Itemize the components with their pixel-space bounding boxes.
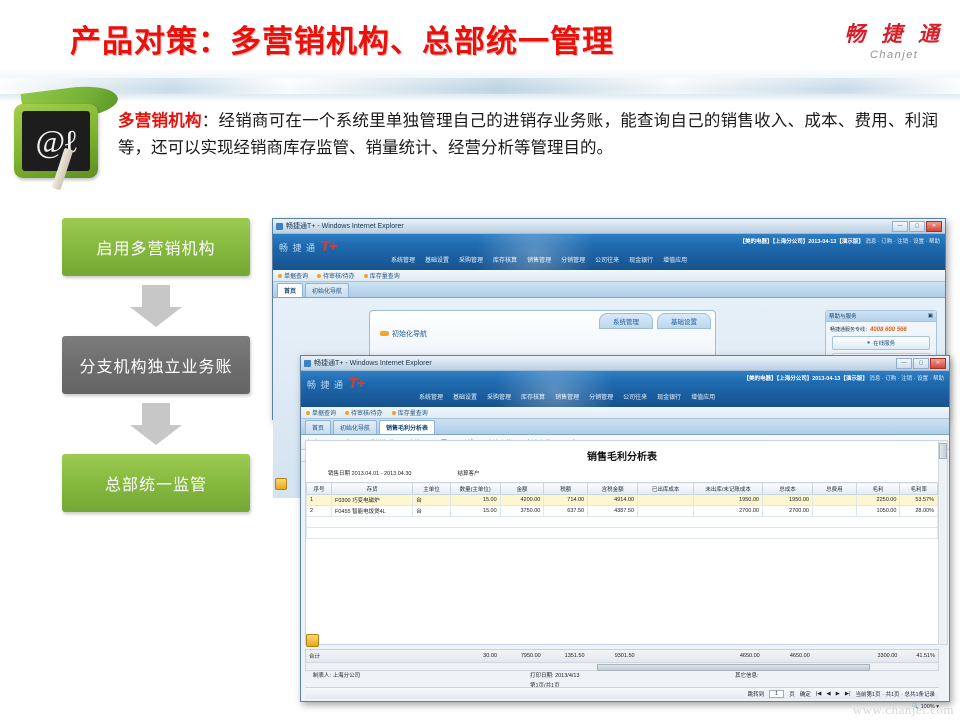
description-body: 经销商可在一个系统里单独管理自己的进销存业务账，能查询自己的销售收入、成本、费用…	[118, 112, 938, 157]
minimize-button[interactable]: —	[892, 221, 908, 232]
window1-title: 畅捷通T+ - Windows Internet Explorer	[286, 221, 404, 231]
cell-pending-cost: 1950.00	[694, 495, 763, 506]
window2-action-order[interactable]: 订购	[885, 376, 896, 382]
window2-action-help[interactable]: 帮助	[933, 376, 944, 382]
blackboard-icon: @ℓ	[14, 104, 98, 178]
window1-controls[interactable]: — ▢ ✕	[892, 221, 942, 232]
flow-step-3-label: 总部统一监管	[105, 471, 207, 495]
ie-icon	[276, 223, 283, 230]
cell-amount: 4200.00	[500, 495, 544, 506]
cell-inventory: F0300 巧变电磁炉	[331, 495, 412, 506]
decorative-band	[0, 68, 960, 102]
flow-step-2: 分支机构独立业务账	[62, 336, 250, 394]
report-window-front[interactable]: 畅捷通T+ - Windows Internet Explorer — ▢ ✕ …	[300, 355, 950, 702]
window2-org-info: 【美的电器】【上海分公司】2013-04-13【演示版】	[743, 376, 867, 382]
total-pending-cost: 4650.00	[694, 650, 763, 661]
col-amount[interactable]: 金额	[500, 483, 544, 495]
menu-item-ar-ap[interactable]: 公司往来	[595, 255, 619, 264]
tab-init-guide[interactable]: 初始化导航	[305, 283, 349, 297]
crumb-doc-query[interactable]: 单据查询	[312, 411, 336, 417]
window2-brand-dots: 畅 捷 通	[307, 380, 344, 390]
tab-init-guide[interactable]: 初始化导航	[333, 420, 377, 434]
footer-printdate-label: 打印日期:	[530, 673, 554, 679]
report-vertical-scrollbar[interactable]	[938, 440, 948, 645]
col-gross[interactable]: 毛利	[856, 483, 900, 495]
crumb-stock-query[interactable]: 库存量查询	[398, 411, 428, 417]
flow-arrow-1-icon	[62, 285, 250, 327]
menu-item-inventory[interactable]: 库存核算	[521, 392, 545, 401]
flow-step-3: 总部统一监管	[62, 454, 250, 512]
blackboard-glyph: @ℓ	[22, 111, 90, 171]
help-panel-header: 帮助与服务 ▣	[826, 311, 936, 322]
hotline-number: 4008 600 566	[870, 327, 907, 333]
last-page-icon[interactable]: ▶|	[845, 691, 851, 697]
crumb-pending[interactable]: 待审核/待办	[351, 411, 383, 417]
description-separator: ：	[202, 112, 219, 130]
window1-action-logout[interactable]: 注销	[897, 239, 908, 245]
hotline-label: 畅捷通服务专线：	[830, 327, 870, 333]
menu-item-distribution[interactable]: 分销管理	[589, 392, 613, 401]
cell-amount-tax: 4914.00	[588, 495, 638, 506]
window1-brand-t: T+	[320, 238, 336, 255]
col-tax[interactable]: 税额	[544, 483, 588, 495]
cell-total-cost: 2700.00	[763, 506, 813, 517]
flow-step-2-label: 分支机构独立业务账	[79, 353, 232, 377]
window1-action-help[interactable]: 帮助	[929, 239, 940, 245]
window1-brand: 畅 捷 通 T+	[279, 238, 336, 256]
total-expense	[813, 650, 857, 661]
window2-controls[interactable]: — ▢ ✕	[896, 358, 946, 369]
flow-step-1: 启用多营销机构	[62, 218, 250, 276]
menu-item-system[interactable]: 系统管理	[391, 255, 415, 264]
window2-tabs[interactable]: 首页 初始化导航 销售毛利分析表	[301, 419, 949, 435]
col-amount-tax[interactable]: 含税金额	[588, 483, 638, 495]
report-horizontal-scrollbar[interactable]	[305, 662, 939, 671]
menu-item-basic[interactable]: 基础设置	[453, 392, 477, 401]
arrow-bullet-icon	[380, 331, 389, 336]
description-paragraph: 多营销机构：经销商可在一个系统里单独管理自己的进销存业务账，能查询自己的销售收入…	[118, 108, 938, 162]
menu-item-distribution[interactable]: 分销管理	[561, 255, 585, 264]
online-service-icon: ●	[867, 340, 870, 346]
window1-side-handle[interactable]	[275, 478, 287, 490]
window1-action-message[interactable]: 消息	[865, 239, 876, 245]
flow-arrow-2-icon	[62, 403, 250, 445]
nav-panel-tabs[interactable]: 系统管理 基础设置	[599, 313, 711, 329]
col-gross-rate[interactable]: 毛利率	[900, 483, 938, 495]
report-title: 销售毛利分析表	[306, 441, 938, 469]
help-panel-collapse-icon[interactable]: ▣	[928, 313, 933, 319]
menu-item-system[interactable]: 系统管理	[419, 392, 443, 401]
window2-action-settings[interactable]: 设置	[917, 376, 928, 382]
menu-item-cash-bank[interactable]: 现金银行	[629, 255, 653, 264]
cell-qty: 15.00	[450, 506, 500, 517]
confirm-button[interactable]: 确定	[800, 690, 811, 698]
report-meta: 销售日期 2013.04.01 - 2013.04.30 结算客户	[306, 469, 938, 482]
cell-total-cost: 1950.00	[763, 495, 813, 506]
window1-titlebar[interactable]: 畅捷通T+ - Windows Internet Explorer — ▢ ✕	[273, 219, 945, 234]
window2-brand-t: T+	[348, 375, 364, 392]
window2-side-handle[interactable]	[306, 634, 319, 647]
total-amount-tax: 9301.50	[588, 650, 638, 661]
report-total-row: 合计 30.00 7950.00 1351.50 9301.50 4650.00…	[305, 649, 939, 663]
menu-item-inventory[interactable]: 库存核算	[493, 255, 517, 264]
col-seq[interactable]: 序号	[307, 483, 332, 495]
flow-step-1-label: 启用多营销机构	[96, 235, 215, 259]
cell-qty: 15.00	[450, 495, 500, 506]
cell-unit: 台	[413, 495, 450, 506]
cell-unit: 台	[413, 506, 450, 517]
tab-home[interactable]: 首页	[277, 283, 303, 297]
cell-tax: 637.50	[544, 506, 588, 517]
table-row[interactable]: 1 F0300 巧变电磁炉 台 15.00 4200.00 714.00 491…	[307, 495, 938, 506]
cell-expense	[812, 506, 856, 517]
col-unit[interactable]: 主单位	[413, 483, 450, 495]
flow-diagram: 启用多营销机构 分支机构独立业务账 总部统一监管	[62, 218, 250, 512]
horizontal-scroll-thumb[interactable]	[597, 664, 871, 671]
col-qty[interactable]: 数量(主单位)	[450, 483, 500, 495]
col-out-cost[interactable]: 已出库成本	[638, 483, 694, 495]
cell-pending-cost: 2700.00	[694, 506, 763, 517]
ie-icon	[304, 360, 311, 367]
menu-item-purchase[interactable]: 采购管理	[459, 255, 483, 264]
close-button[interactable]: ✕	[930, 358, 946, 369]
footer-preparer-label: 制表人:	[313, 673, 331, 679]
vertical-scroll-thumb[interactable]	[939, 443, 947, 459]
total-out-cost	[638, 650, 694, 661]
total-unit	[412, 650, 450, 661]
table-row-empty	[307, 528, 938, 539]
cell-tax: 714.00	[544, 495, 588, 506]
window2-top-info: 【美的电器】【上海分公司】2013-04-13【演示版】 消息 · 订购 · 注…	[743, 374, 944, 382]
window2-action-message[interactable]: 消息	[869, 376, 880, 382]
report-canvas: 销售毛利分析表 销售日期 2013.04.01 - 2013.04.30 结算客…	[305, 440, 939, 645]
total-total-cost: 4650.00	[763, 650, 813, 661]
nav-panel-title: 初始化导航	[380, 329, 427, 339]
minimize-button[interactable]: —	[896, 358, 912, 369]
brand-logo: 畅 捷 通 Chanjet	[844, 18, 944, 61]
total-gross-rate: 41.51%	[900, 650, 938, 661]
table-row[interactable]: 2 F0455 智能电饭煲4L 台 15.00 3750.00 637.50 4…	[307, 506, 938, 517]
jump-label: 跳转到	[748, 690, 765, 698]
footer-printdate-value: 2013/4/13	[555, 673, 579, 679]
menu-item-sales[interactable]: 销售管理	[527, 255, 551, 264]
tab-gross-profit-report[interactable]: 销售毛利分析表	[379, 420, 435, 434]
footer-other-label: 其它信息:	[735, 673, 759, 679]
meta-date-value: 2013.04.01 - 2013.04.30	[352, 471, 412, 477]
brand-logo-cn: 畅 捷 通	[844, 18, 944, 48]
menu-item-basic[interactable]: 基础设置	[425, 255, 449, 264]
online-service-button[interactable]: ● 在线服务	[832, 336, 930, 350]
meta-date-label: 销售日期	[328, 471, 350, 477]
table-header-row: 序号 存货 主单位 数量(主单位) 金额 税额 含税金额 已出库成本 未出库/未…	[307, 483, 938, 495]
menu-item-value-added[interactable]: 增值应用	[663, 255, 687, 264]
cell-out-cost	[638, 506, 694, 517]
table-row-empty	[307, 517, 938, 528]
cell-gross-rate: 53.57%	[900, 495, 938, 506]
total-tax: 1351.50	[544, 650, 588, 661]
first-page-icon[interactable]: |◀	[816, 691, 822, 697]
window2-titlebar[interactable]: 畅捷通T+ - Windows Internet Explorer — ▢ ✕	[301, 356, 949, 371]
tab-home[interactable]: 首页	[305, 420, 331, 434]
total-inventory	[331, 650, 412, 661]
window2-menubar[interactable]: 系统管理 基础设置 采购管理 库存核算 销售管理 分销管理 公司往来 现金银行 …	[413, 392, 715, 401]
cell-inventory: F0455 智能电饭煲4L	[331, 506, 412, 517]
col-pending-cost[interactable]: 未出库/未记账成本	[694, 483, 763, 495]
window1-action-settings[interactable]: 设置	[913, 239, 924, 245]
cell-out-cost	[638, 495, 694, 506]
description-keyword: 多营销机构	[118, 112, 202, 130]
cell-seq: 2	[307, 506, 332, 517]
total-gross: 3300.00	[857, 650, 901, 661]
cell-amount-tax: 4387.50	[588, 506, 638, 517]
brand-logo-en: Chanjet	[844, 49, 944, 61]
total-amount: 7950.00	[500, 650, 544, 661]
hotline-row: 畅捷通服务专线：4008 600 566	[826, 322, 936, 335]
cell-gross: 1050.00	[856, 506, 900, 517]
cell-expense	[812, 495, 856, 506]
col-inventory[interactable]: 存货	[331, 483, 412, 495]
meta-customer-label: 结算客户	[458, 471, 480, 477]
maximize-button[interactable]: ▢	[913, 358, 929, 369]
cell-gross-rate: 28.00%	[900, 506, 938, 517]
crumb-stock-query[interactable]: 库存量查询	[370, 274, 400, 280]
menu-item-ar-ap[interactable]: 公司往来	[623, 392, 647, 401]
close-button[interactable]: ✕	[926, 221, 942, 232]
cell-gross: 2250.00	[856, 495, 900, 506]
watermark: www.chanjet.com	[853, 702, 954, 718]
menu-item-cash-bank[interactable]: 现金银行	[657, 392, 681, 401]
window1-tabs[interactable]: 首页 初始化导航	[273, 282, 945, 298]
window1-brand-dots: 畅 捷 通	[279, 243, 316, 253]
menu-item-value-added[interactable]: 增值应用	[691, 392, 715, 401]
window1-menubar[interactable]: 系统管理 基础设置 采购管理 库存核算 销售管理 分销管理 公司往来 现金银行 …	[385, 255, 687, 264]
nav-tab-system[interactable]: 系统管理	[599, 313, 653, 329]
total-qty: 30.00	[450, 650, 500, 661]
window2-app-header: 畅 捷 通 T+ 【美的电器】【上海分公司】2013-04-13【演示版】 消息…	[301, 371, 949, 407]
total-label: 合计	[306, 650, 331, 661]
cell-seq: 1	[307, 495, 332, 506]
window2-brand: 畅 捷 通 T+	[307, 375, 364, 393]
window1-breadcrumb[interactable]: 单据查询 待审核/待办 库存量查询	[273, 270, 945, 282]
nav-tab-basic[interactable]: 基础设置	[657, 313, 711, 329]
crumb-doc-query[interactable]: 单据查询	[284, 274, 308, 280]
window2-breadcrumb[interactable]: 单据查询 待审核/待办 库存量查询	[301, 407, 949, 419]
next-page-icon[interactable]: ▶	[836, 691, 840, 697]
footer-preparer-value: 上海分公司	[333, 673, 361, 679]
page-title: 产品对策：多营销机构、总部统一管理	[70, 16, 614, 61]
col-expense[interactable]: 总费用	[812, 483, 856, 495]
crumb-pending[interactable]: 待审核/待办	[323, 274, 355, 280]
window1-org-info: 【美的电器】【上海分公司】2013-04-13【演示版】	[739, 239, 863, 245]
report-table: 序号 存货 主单位 数量(主单位) 金额 税额 含税金额 已出库成本 未出库/未…	[306, 482, 938, 539]
window2-action-logout[interactable]: 注销	[901, 376, 912, 382]
window2-title: 畅捷通T+ - Windows Internet Explorer	[314, 358, 432, 368]
col-total-cost[interactable]: 总成本	[763, 483, 813, 495]
prev-page-icon[interactable]: ◀	[826, 691, 830, 697]
window1-top-info: 【美的电器】【上海分公司】2013-04-13【演示版】 消息 · 订购 · 注…	[739, 237, 940, 245]
cell-amount: 3750.00	[500, 506, 544, 517]
page-unit-label: 页	[789, 690, 795, 698]
window1-action-order[interactable]: 订购	[881, 239, 892, 245]
menu-item-sales[interactable]: 销售管理	[555, 392, 579, 401]
menu-item-purchase[interactable]: 采购管理	[487, 392, 511, 401]
page-number-input[interactable]: 1	[769, 690, 784, 698]
maximize-button[interactable]: ▢	[909, 221, 925, 232]
report-pagination-bar[interactable]: 跳转到 1 页 确定 |◀ ◀ ▶ ▶| 当前第1页 · 共1页 · 总共1条记…	[305, 687, 939, 699]
window1-app-header: 畅 捷 通 T+ 【美的电器】【上海分公司】2013-04-13【演示版】 消息…	[273, 234, 945, 270]
pagination-status: 当前第1页 · 共1页 · 总共1条记录	[856, 690, 935, 698]
